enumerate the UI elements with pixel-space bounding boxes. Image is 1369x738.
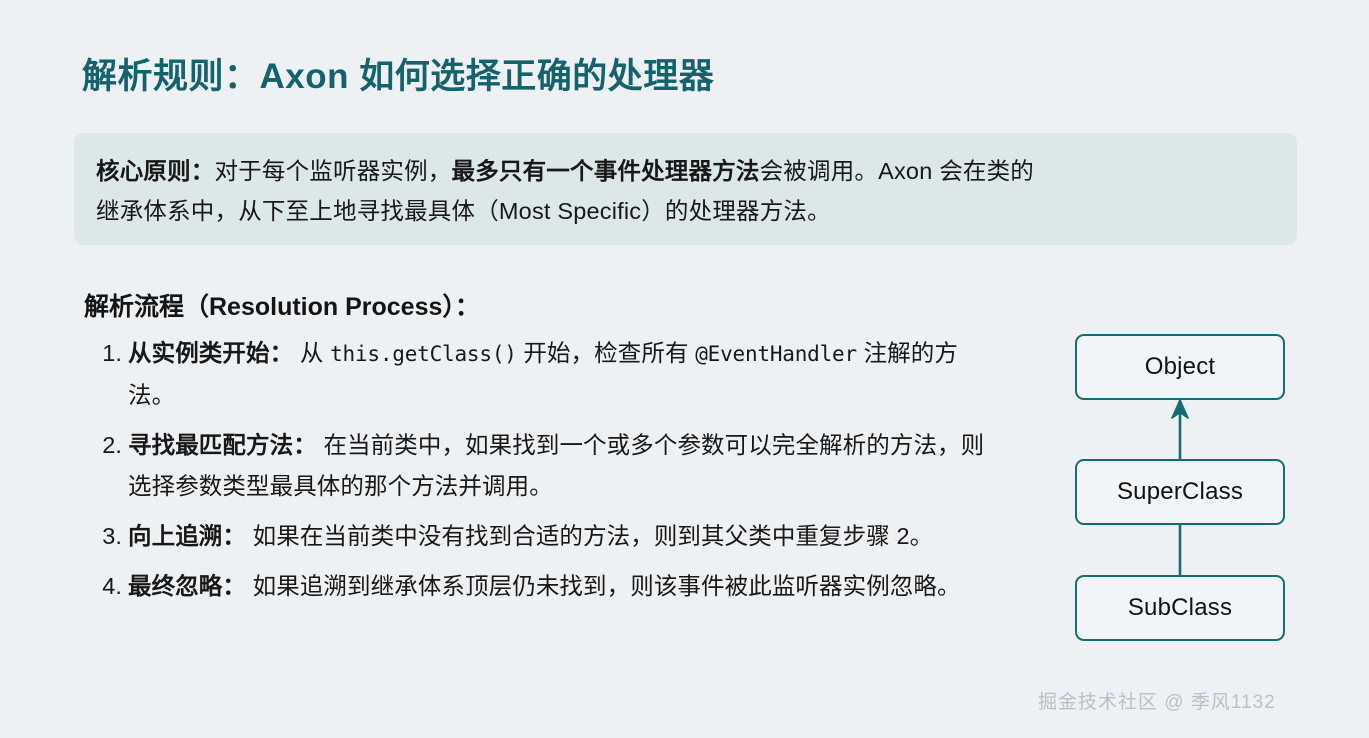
diagram-node-subclass: SubClass — [1075, 575, 1285, 641]
resolution-step-number: 4. — [92, 566, 122, 607]
resolution-step-label: 寻找最匹配方法： — [128, 432, 317, 458]
resolution-step-label: 最终忽略： — [128, 573, 246, 599]
resolution-step-number: 2. — [92, 425, 122, 466]
diagram-node-superclass: SuperClass — [1075, 459, 1285, 525]
callout-line1-a: 对于每个监听器实例， — [215, 158, 452, 184]
slide-root: 解析规则：Axon 如何选择正确的处理器 核心原则：对于每个监听器实例，最多只有… — [0, 0, 1369, 738]
watermark: 掘金技术社区 @ 季风1132 — [1038, 687, 1276, 714]
class-hierarchy-diagram: Object SuperClass SubClass — [1060, 325, 1300, 650]
callout-line1-emphasis: 最多只有一个事件处理器方法 — [452, 158, 760, 184]
callout-body: 核心原则：对于每个监听器实例，最多只有一个事件处理器方法会被调用。Axon 会在… — [96, 151, 1275, 231]
callout-line1-b: 会被调用。Axon 会在类的 — [760, 158, 1034, 184]
resolution-step-text: 开始，检查所有 — [517, 340, 695, 366]
core-principle-callout: 核心原则：对于每个监听器实例，最多只有一个事件处理器方法会被调用。Axon 会在… — [74, 133, 1297, 245]
resolution-step-code: this.getClass() — [330, 342, 517, 366]
resolution-step-text: 如果追溯到继承体系顶层仍未找到，则该事件被此监听器实例忽略。 — [246, 573, 961, 599]
resolution-step-number: 3. — [92, 516, 122, 557]
resolution-step: 1.从实例类开始： 从 this.getClass() 开始，检查所有 @Eve… — [84, 333, 994, 416]
resolution-step-text: 从 — [293, 340, 330, 366]
resolution-steps-list: 1.从实例类开始： 从 this.getClass() 开始，检查所有 @Eve… — [84, 333, 994, 616]
resolution-step-label: 从实例类开始： — [128, 340, 293, 366]
diagram-node-superclass-label: SuperClass — [1117, 478, 1243, 506]
diagram-node-object: Object — [1075, 334, 1285, 400]
diagram-node-subclass-label: SubClass — [1128, 594, 1232, 622]
resolution-step-label: 向上追溯： — [128, 523, 246, 549]
resolution-step: 2.寻找最匹配方法： 在当前类中，如果找到一个或多个参数可以完全解析的方法，则选… — [84, 425, 994, 507]
resolution-step: 4.最终忽略： 如果追溯到继承体系顶层仍未找到，则该事件被此监听器实例忽略。 — [84, 566, 994, 607]
process-heading: 解析流程（Resolution Process）： — [84, 287, 480, 323]
callout-line2: 继承体系中，从下至上地寻找最具体（Most Specific）的处理器方法。 — [96, 198, 831, 224]
resolution-step: 3.向上追溯： 如果在当前类中没有找到合适的方法，则到其父类中重复步骤 2。 — [84, 516, 994, 557]
page-title: 解析规则：Axon 如何选择正确的处理器 — [82, 48, 714, 99]
resolution-step-text: 如果在当前类中没有找到合适的方法，则到其父类中重复步骤 2。 — [246, 523, 933, 549]
resolution-step-number: 1. — [92, 333, 122, 374]
callout-label: 核心原则： — [96, 158, 215, 184]
resolution-step-code: @EventHandler — [695, 342, 857, 366]
diagram-node-object-label: Object — [1145, 353, 1216, 381]
